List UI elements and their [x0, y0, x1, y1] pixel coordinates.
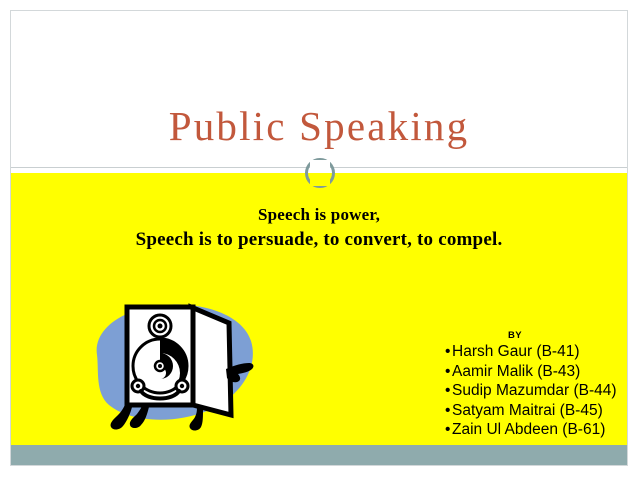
credit-name: Aamir Malik (B-43) — [452, 363, 580, 380]
bullet-icon: • — [445, 381, 452, 401]
credit-name: Zain Ul Abdeen (B-61) — [452, 421, 605, 438]
subtitle-line-2: Speech is to persuade, to convert, to co… — [11, 227, 627, 253]
list-item: •Sudip Mazumdar (B-44) — [445, 381, 621, 401]
loudspeaker-character-icon — [83, 293, 263, 435]
credit-name: Harsh Gaur (B-41) — [452, 343, 579, 360]
circle-ornament-icon — [305, 158, 335, 188]
list-item: •Zain Ul Abdeen (B-61) — [445, 420, 621, 440]
subtitle: Speech is power, Speech is to persuade, … — [11, 203, 627, 253]
list-item: •Satyam Maitrai (B-45) — [445, 401, 621, 421]
bullet-icon: • — [445, 362, 452, 382]
credit-name: Satyam Maitrai (B-45) — [452, 402, 603, 419]
ornament-bottom-mask — [310, 174, 330, 186]
footer-accent-bar — [11, 445, 627, 466]
bullet-icon: • — [445, 401, 452, 421]
credits-heading: BY — [431, 329, 621, 342]
credits-block: BY •Harsh Gaur (B-41)•Aamir Malik (B-43)… — [431, 329, 621, 440]
bullet-icon: • — [445, 420, 452, 440]
slide: Public Speaking Speech is power, Speech … — [10, 10, 628, 466]
subtitle-line-1: Speech is power, — [11, 203, 627, 227]
ornament-top-mask — [310, 160, 330, 169]
credit-name: Sudip Mazumdar (B-44) — [452, 382, 617, 399]
list-item: •Harsh Gaur (B-41) — [445, 342, 621, 362]
credits-list: •Harsh Gaur (B-41)•Aamir Malik (B-43)•Su… — [431, 342, 621, 440]
list-item: •Aamir Malik (B-43) — [445, 362, 621, 382]
bullet-icon: • — [445, 342, 452, 362]
page-title: Public Speaking — [11, 103, 627, 149]
